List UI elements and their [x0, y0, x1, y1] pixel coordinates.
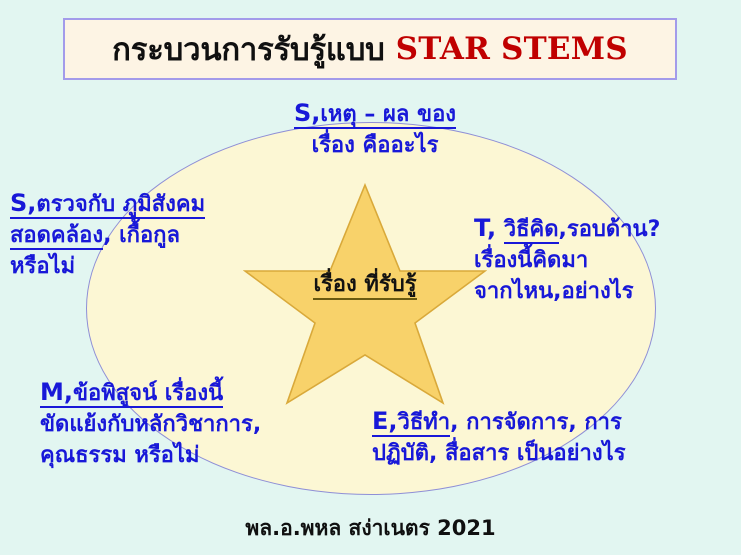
block-m-bottom-left: M,ข้อพิสูจน์ เรื่องนี้ ขัดแย้งกับหลักวิช…	[40, 375, 261, 472]
block-t-line1-rest: ,รอบด้าน?	[559, 217, 661, 242]
block-t-line1: T, วิธีคิด,รอบด้าน?	[474, 211, 660, 245]
title-box: กระบวนการรับรู้แบบ STAR STEMS	[63, 18, 677, 80]
block-e-line1-rest: , การจัดการ, การ	[450, 410, 622, 435]
block-m-line1: M,ข้อพิสูจน์ เรื่องนี้	[40, 375, 261, 409]
block-s-top-letter: S,	[294, 99, 320, 129]
block-t-line3: จากไหน,อย่างไร	[474, 276, 660, 307]
block-s-top-line2: เรื่อง คืออะไร	[255, 130, 495, 161]
block-s-left-line1-text: ตรวจกับ ภูมิสังคม	[36, 192, 205, 219]
block-s-left-line2: สอดคล้อง, เกื้อกูล	[10, 220, 205, 251]
slide-canvas: กระบวนการรับรู้แบบ STAR STEMS เรื่อง ที่…	[0, 0, 741, 555]
block-s-left: S,ตรวจกับ ภูมิสังคม สอดคล้อง, เกื้อกูล ห…	[10, 186, 205, 283]
block-t-right: T, วิธีคิด,รอบด้าน? เรื่องนี้คิดมา จากไห…	[474, 211, 660, 308]
author-footer: พล.อ.พหล สง่าเนตร 2021	[0, 512, 741, 545]
star-center-label: เรื่อง ที่รับรู้	[243, 266, 487, 301]
block-e-line1-underlined: วิธีทำ	[398, 410, 451, 437]
block-e-bottom-right: E,วิธีทำ, การจัดการ, การ ปฏิบัติ, สื่อสา…	[372, 404, 626, 469]
block-e-line1: E,วิธีทำ, การจัดการ, การ	[372, 404, 626, 438]
block-t-letter: T,	[474, 214, 496, 242]
block-s-left-line2-underlined: สอดคล้อง	[10, 223, 103, 250]
block-e-letter: E,	[372, 407, 398, 437]
page-title-english: STAR STEMS	[396, 31, 628, 67]
block-m-line2: ขัดแย้งกับหลักวิชาการ,	[40, 409, 261, 440]
block-m-line1-underlined: ข้อพิสูจน์	[73, 381, 157, 408]
block-t-line2: เรื่องนี้คิดมา	[474, 245, 660, 276]
block-s-left-letter: S,	[10, 189, 36, 219]
star-center-label-text: เรื่อง ที่รับรู้	[313, 272, 416, 300]
block-s-left-line3: หรือไม่	[10, 251, 205, 282]
block-m-line1-rest: เรื่องนี้	[157, 381, 223, 408]
block-m-letter: M,	[40, 378, 73, 408]
block-s-top-line1: S,เหตุ – ผล ของ	[255, 96, 495, 130]
block-t-line1-underlined: วิธีคิด	[504, 217, 559, 244]
block-s-top-line1-text: เหตุ – ผล ของ	[320, 102, 456, 129]
block-m-line3: คุณธรรม หรือไม่	[40, 440, 261, 471]
block-s-left-line2-rest: , เกื้อกูล	[103, 223, 180, 248]
block-s-left-line1: S,ตรวจกับ ภูมิสังคม	[10, 186, 205, 220]
page-title-thai: กระบวนการรับรู้แบบ	[112, 24, 385, 74]
block-e-line2: ปฏิบัติ, สื่อสาร เป็นอย่างไร	[372, 438, 626, 469]
block-s-top: S,เหตุ – ผล ของ เรื่อง คืออะไร	[255, 96, 495, 161]
